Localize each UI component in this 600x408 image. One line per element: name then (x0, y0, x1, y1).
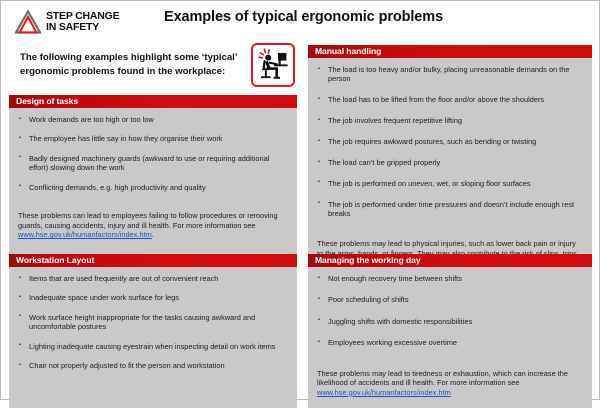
list-item: Chair not properly adjusted to fit the p… (18, 361, 288, 370)
bullet-list: Items that are used frequently are out o… (18, 274, 288, 370)
spacer (18, 202, 288, 211)
panel-body-design-of-tasks: Work demands are too high or too low The… (9, 108, 297, 256)
panel-title-manual-handling: Manual handling (308, 45, 592, 58)
list-item: The employee has little say in how they … (18, 134, 288, 143)
note-text-tail: . (152, 230, 154, 239)
list-item: Conflicting demands, e.g. high productiv… (18, 183, 288, 192)
hse-link[interactable]: www.hse.gov.uk/humanfactors/index.htm (317, 388, 451, 397)
panel-workstation-layout: Workstation Layout Items that are used f… (9, 254, 297, 408)
panel-manual-handling: Manual handling The load is too heavy an… (308, 45, 592, 258)
list-item: The job is performed under time pressure… (317, 200, 583, 219)
bullet-list: Not enough recovery time between shifts … (317, 274, 583, 348)
ergonomic-posture-icon (251, 43, 295, 87)
list-item: Lighting inadequate causing eyestrain wh… (18, 342, 288, 351)
note-text: These problems may lead to tiredness or … (317, 369, 568, 388)
page-title: Examples of typical ergonomic problems (164, 9, 443, 25)
list-item: Not enough recovery time between shifts (317, 274, 583, 283)
slide-canvas: STEP CHANGE IN SAFETY Examples of typica… (0, 0, 600, 400)
spacer (317, 230, 583, 239)
bullet-list: The load is too heavy and/or bulky, plac… (317, 65, 583, 219)
panel-design-of-tasks: Design of tasks Work demands are too hig… (9, 95, 297, 256)
slide-header: STEP CHANGE IN SAFETY Examples of typica… (1, 1, 600, 39)
bullet-list: Work demands are too high or too low The… (18, 115, 288, 192)
list-item: Poor scheduling of shifts (317, 295, 583, 304)
panel-title-design-of-tasks: Design of tasks (9, 95, 297, 108)
step-change-in-safety-logo: STEP CHANGE IN SAFETY (15, 10, 119, 34)
list-item: The job is performed on uneven, wet, or … (317, 179, 583, 188)
logo-line-2: IN SAFETY (46, 22, 119, 33)
panel-note-managing-the-working-day: These problems may lead to tiredness or … (317, 369, 583, 398)
panel-body-manual-handling: The load is too heavy and/or bulky, plac… (308, 58, 592, 258)
list-item: Employees working excessive overtime (317, 338, 583, 347)
spacer (317, 360, 583, 369)
list-item: Work demands are too high or too low (18, 115, 288, 124)
list-item: Items that are used frequently are out o… (18, 274, 288, 283)
hse-link[interactable]: www.hse.gov.uk/humanfactors/index.htm (18, 230, 152, 239)
list-item: The load has to be lifted from the floor… (317, 95, 583, 104)
list-item: Inadequate space under work surface for … (18, 293, 288, 302)
list-item: The job involves frequent repetitive lif… (317, 116, 583, 125)
panel-title-managing-the-working-day: Managing the working day (308, 254, 592, 267)
list-item: The load is too heavy and/or bulky, plac… (317, 65, 583, 84)
panel-note-design-of-tasks: These problems can lead to employees fai… (18, 211, 288, 240)
list-item: Work surface height inappropriate for th… (18, 313, 288, 332)
logo-wordmark: STEP CHANGE IN SAFETY (46, 11, 119, 33)
panel-body-managing-the-working-day: Not enough recovery time between shifts … (308, 267, 592, 408)
panel-title-workstation-layout: Workstation Layout (9, 254, 297, 267)
panel-managing-the-working-day: Managing the working day Not enough reco… (308, 254, 592, 408)
list-item: The job requires awkward postures, such … (317, 137, 583, 146)
list-item: Badly designed machinery guards (awkward… (18, 154, 288, 173)
panel-body-workstation-layout: Items that are used frequently are out o… (9, 267, 297, 408)
list-item: The load can’t be gripped properly (317, 158, 583, 167)
intro-text: The following examples highlight some ‘t… (20, 51, 252, 78)
triangle-logo-icon (15, 10, 41, 34)
list-item: Juggling shifts with domestic responsibi… (317, 317, 583, 326)
note-text: These problems can lead to employees fai… (18, 211, 278, 230)
